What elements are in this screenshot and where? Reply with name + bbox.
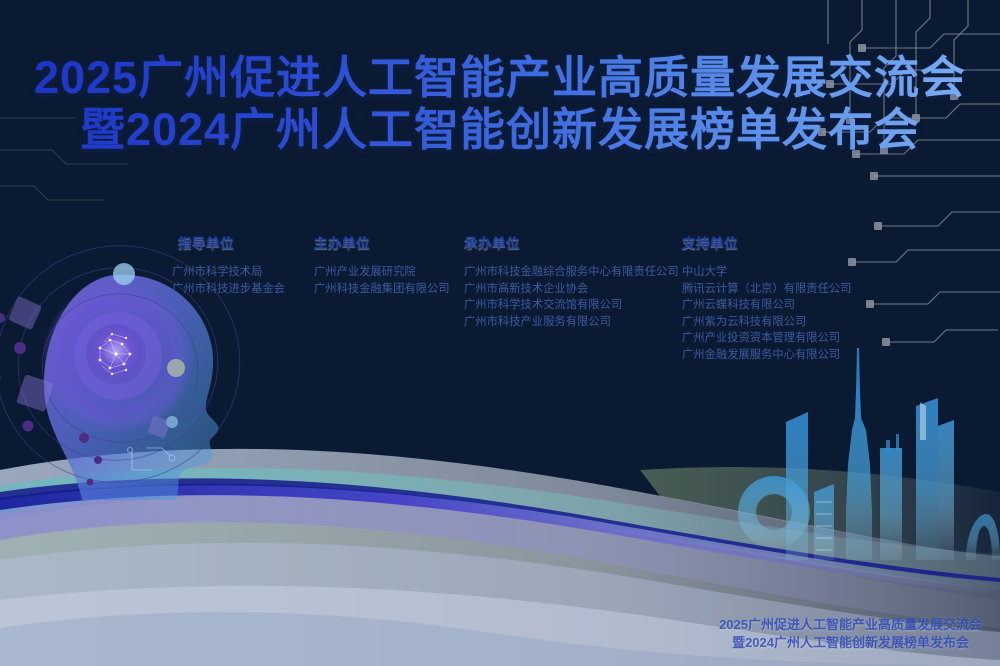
unit-column-support: 支持单位 中山大学 腾讯云计算（北京）有限责任公司 广州云蝶科技有限公司 广州紫… <box>682 232 882 363</box>
unit-item: 广州云蝶科技有限公司 <box>682 297 882 314</box>
unit-column-organizer: 承办单位 广州市科技金融综合服务中心有限责任公司 广州市高新技术企业协会 广州市… <box>464 232 682 330</box>
event-backdrop-poster: 2025广州促进人工智能产业高质量发展交流会 暨2024广州人工智能创新发展榜单… <box>0 0 1000 666</box>
unit-heading-host: 主办单位 <box>314 232 464 252</box>
unit-item: 广州市科技进步基金会 <box>172 281 314 298</box>
event-title-line-2: 暨2024广州人工智能创新发展榜单发布会 <box>0 104 1000 156</box>
unit-item: 广州市科技产业服务有限公司 <box>464 314 682 331</box>
unit-item: 广州产业发展研究院 <box>314 264 464 281</box>
unit-item: 中山大学 <box>682 264 882 281</box>
unit-heading-support: 支持单位 <box>682 232 882 252</box>
event-watermark: 2025广州促进人工智能产业高质量发展交流会 暨2024广州人工智能创新发展榜单… <box>719 616 982 652</box>
unit-item: 广州金融发展服务中心有限公司 <box>682 347 882 364</box>
watermark-line-1: 2025广州促进人工智能产业高质量发展交流会 <box>719 616 982 634</box>
event-title-line-1: 2025广州促进人工智能产业高质量发展交流会 <box>0 52 1000 104</box>
unit-item: 广州产业投资资本管理有限公司 <box>682 330 882 347</box>
organizing-units-section: 指导单位 广州市科学技术局 广州市科技进步基金会 主办单位 广州产业发展研究院 … <box>172 232 882 363</box>
unit-item: 广州紫为云科技有限公司 <box>682 314 882 331</box>
unit-column-guidance: 指导单位 广州市科学技术局 广州市科技进步基金会 <box>172 232 314 297</box>
unit-item: 广州市科学技术局 <box>172 264 314 281</box>
event-title: 2025广州促进人工智能产业高质量发展交流会 暨2024广州人工智能创新发展榜单… <box>0 52 1000 156</box>
unit-item: 广州科技金融集团有限公司 <box>314 281 464 298</box>
watermark-line-2: 暨2024广州人工智能创新发展榜单发布会 <box>719 634 982 652</box>
unit-item: 广州市科学技术交流馆有限公司 <box>464 297 682 314</box>
unit-item: 广州市高新技术企业协会 <box>464 281 682 298</box>
unit-column-host: 主办单位 广州产业发展研究院 广州科技金融集团有限公司 <box>314 232 464 297</box>
unit-item: 腾讯云计算（北京）有限责任公司 <box>682 281 882 298</box>
unit-item: 广州市科技金融综合服务中心有限责任公司 <box>464 264 682 281</box>
unit-heading-organizer: 承办单位 <box>464 232 682 252</box>
guangzhou-skyline-illustration <box>730 344 1000 574</box>
unit-heading-guidance: 指导单位 <box>178 232 314 252</box>
